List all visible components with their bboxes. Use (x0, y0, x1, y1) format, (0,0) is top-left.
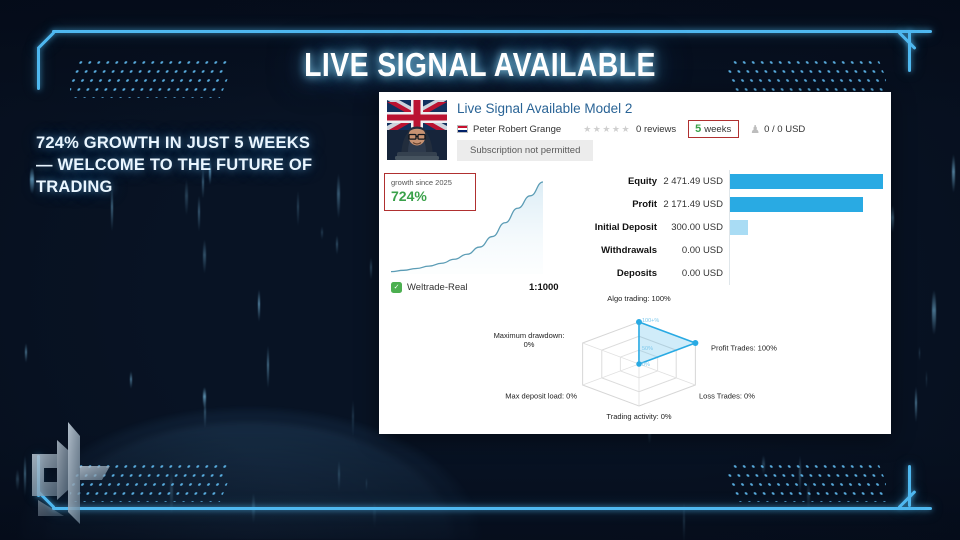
radar-point (636, 361, 641, 366)
stat-row: Deposits0.00 USD (571, 262, 883, 285)
growth-badge: growth since 2025 724% (384, 173, 476, 211)
stat-bar (730, 174, 883, 189)
subscribers-icon: ♟ (750, 123, 760, 136)
stat-value: 0.00 USD (657, 268, 729, 279)
radar-point (692, 340, 698, 346)
h-monogram-logo (24, 420, 144, 530)
rating-stars: ★★★★★ (583, 124, 631, 135)
radar-tick-label: 50% (642, 346, 653, 352)
radar-axis-label: Loss Trades: 0% (699, 392, 755, 401)
radar-axis-label: Algo trading: 100% (607, 294, 670, 303)
stat-value: 300.00 USD (657, 222, 729, 233)
dot-grid-bottom-right (728, 462, 886, 502)
stats-table: Equity2 471.49 USDProfit2 171.49 USDInit… (571, 170, 883, 285)
page-title: LIVE SIGNAL AVAILABLE (67, 46, 893, 84)
stat-bar-track (729, 170, 883, 193)
leverage-value: 1:1000 (529, 282, 559, 293)
growth-label: growth since 2025 (391, 178, 469, 187)
stat-row: Initial Deposit300.00 USD (571, 216, 883, 239)
stat-bar-track (729, 216, 883, 239)
subscription-button[interactable]: Subscription not permitted (457, 140, 593, 161)
stat-label: Equity (571, 176, 657, 187)
radar-axis-label: Maximum drawdown: 0% (491, 331, 567, 349)
reviews-count: 0 reviews (636, 124, 676, 135)
author-name[interactable]: Peter Robert Grange (473, 124, 561, 135)
signal-card: Live Signal Available Model 2 Peter Robe… (379, 92, 891, 434)
radar-axis-label: Profit Trades: 100% (711, 344, 777, 353)
radar-tick-label: 100+% (642, 318, 659, 324)
stat-value: 2 171.49 USD (657, 199, 729, 210)
avatar (387, 100, 447, 160)
stat-bar-track (729, 193, 883, 216)
slide-stage: LIVE SIGNAL AVAILABLE 724% GROWTH IN JUS… (0, 0, 960, 540)
growth-value: 724% (391, 188, 469, 204)
card-meta-row: Peter Robert Grange ★★★★★ 0 reviews 5 we… (457, 121, 805, 137)
radar-chart: Algo trading: 100%Profit Trades: 100%Los… (489, 300, 789, 430)
subscribers-value: 0 / 0 USD (764, 124, 805, 135)
radar-series-area (639, 322, 695, 364)
stat-bar (730, 197, 863, 212)
stat-row: Withdrawals0.00 USD (571, 239, 883, 262)
stat-bar (730, 220, 748, 235)
verified-shield-icon: ✓ (391, 282, 402, 293)
radar-axis-label: Max deposit load: 0% (505, 392, 577, 401)
weeks-number: 5 (695, 123, 701, 135)
stat-row: Profit2 171.49 USD (571, 193, 883, 216)
uk-flag-icon (457, 125, 468, 133)
stat-bar-track (729, 262, 883, 285)
stat-label: Initial Deposit (571, 222, 657, 233)
card-title[interactable]: Live Signal Available Model 2 (457, 101, 632, 116)
stat-value: 2 471.49 USD (657, 176, 729, 187)
headline-text: 724% GROWTH IN JUST 5 WEEKS — WELCOME TO… (36, 133, 328, 198)
weeks-label: weeks (704, 124, 731, 135)
card-header: Live Signal Available Model 2 Peter Robe… (379, 92, 891, 166)
stat-row: Equity2 471.49 USD (571, 170, 883, 193)
radar-axis-label: Trading activity: 0% (606, 412, 671, 421)
stat-bar-track (729, 239, 883, 262)
stat-label: Profit (571, 199, 657, 210)
stat-label: Deposits (571, 268, 657, 279)
stat-value: 0.00 USD (657, 245, 729, 256)
radar-tick-label: 0% (642, 362, 650, 368)
stat-label: Withdrawals (571, 245, 657, 256)
weeks-badge: 5 weeks (688, 120, 739, 138)
broker-name: Weltrade-Real (407, 282, 468, 293)
